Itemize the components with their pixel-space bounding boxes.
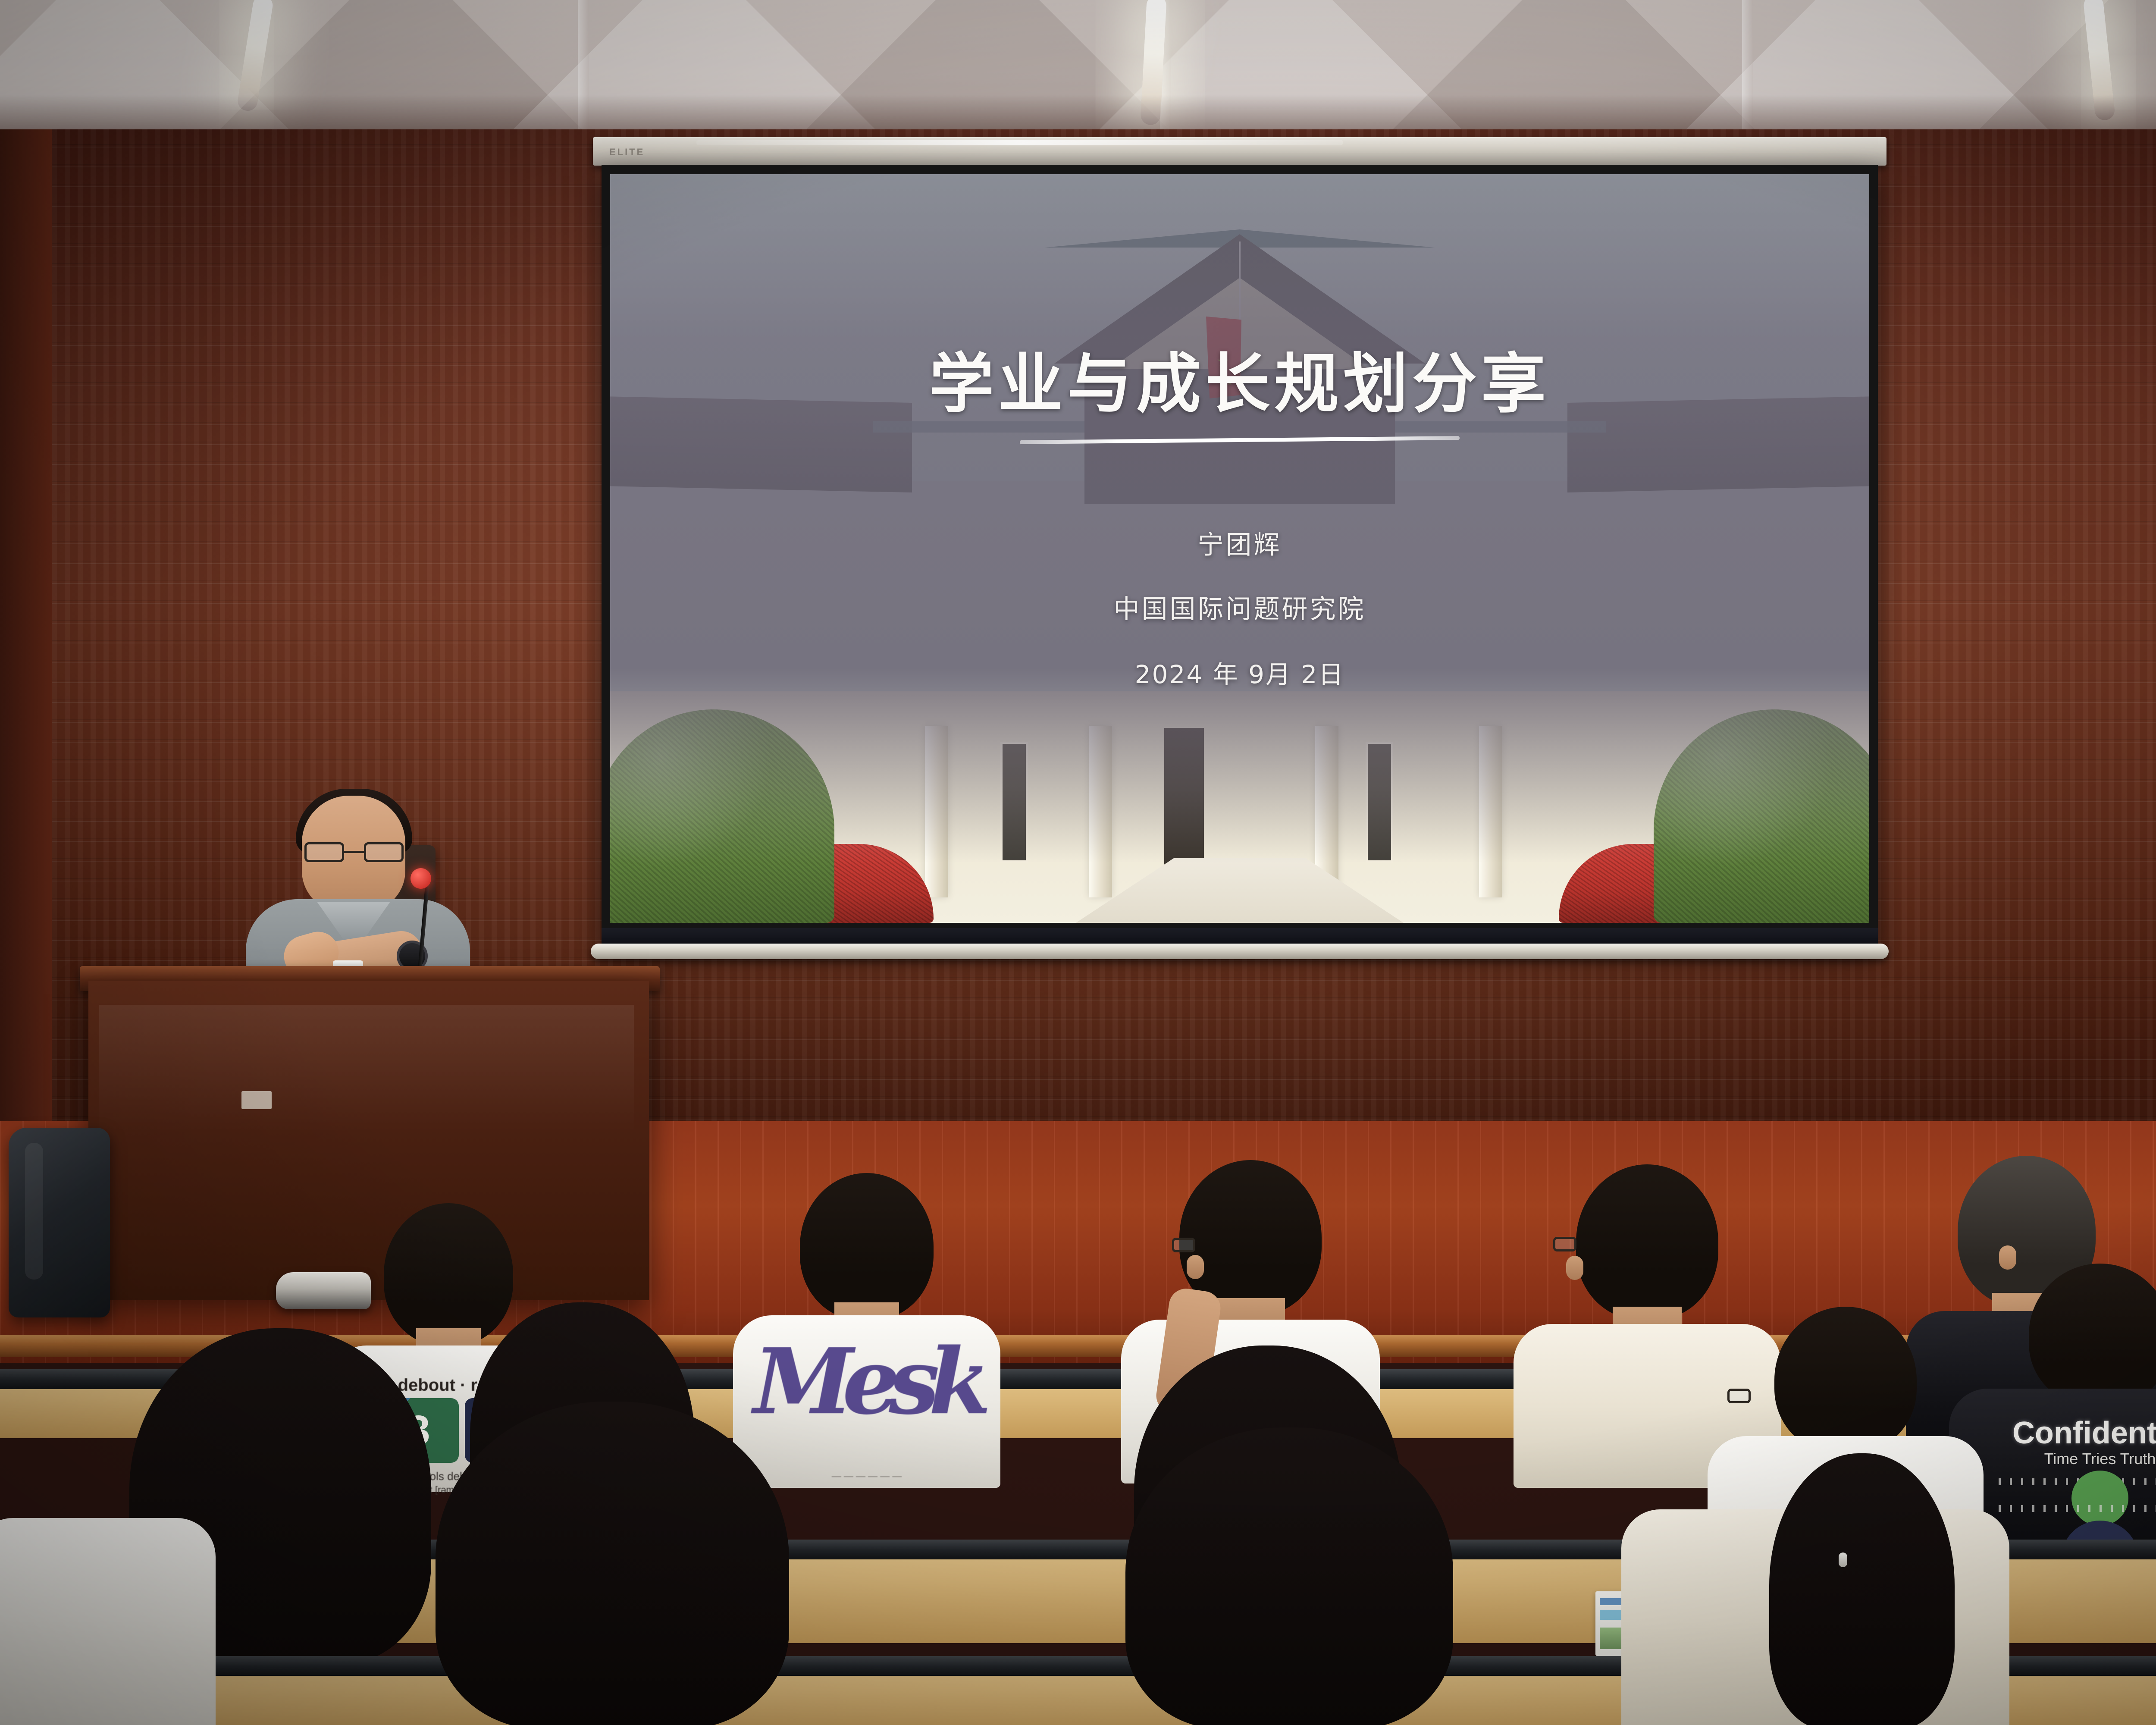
tee-confident-subtitle: Time Tries Truth	[2044, 1450, 2156, 1468]
screen-weight-bar[interactable]	[591, 944, 1889, 959]
podium-sticker	[241, 1091, 272, 1109]
glasses-icon	[304, 842, 404, 862]
ceiling	[0, 0, 2156, 142]
presentation-slide: ★ ★ 学业与成长规划分享 宁团辉	[610, 174, 1869, 923]
slide-organization: 中国国际问题研究院	[1114, 588, 1366, 626]
slide-divider-rule	[1020, 436, 1460, 444]
audience-member	[1125, 1427, 1453, 1725]
projector-screen-housing[interactable]: ELITE	[593, 137, 1887, 166]
audience-member	[436, 1402, 789, 1725]
audience-member	[0, 1518, 216, 1725]
screen-brand-label: ELITE	[609, 147, 645, 158]
slide-presenter-name: 宁团辉	[1198, 524, 1282, 561]
tee-confident-title: Confident@	[2012, 1415, 2156, 1451]
lecture-hall-photo: ELITE ★ ★	[0, 0, 2156, 1725]
slide-date: 2024 年 9月 2日	[1135, 654, 1345, 690]
audience-member	[1621, 1453, 2009, 1725]
microphone-icon	[411, 868, 431, 889]
left-wall-edge	[0, 129, 52, 1199]
slide-title: 学业与成长规划分享	[929, 332, 1550, 425]
projection-screen[interactable]: ★ ★ 学业与成长规划分享 宁团辉	[602, 165, 1878, 945]
backpack-icon	[9, 1128, 110, 1317]
audience-member: Mesk — — — — — —	[733, 1173, 1000, 1440]
necklace-icon	[1839, 1552, 1847, 1567]
